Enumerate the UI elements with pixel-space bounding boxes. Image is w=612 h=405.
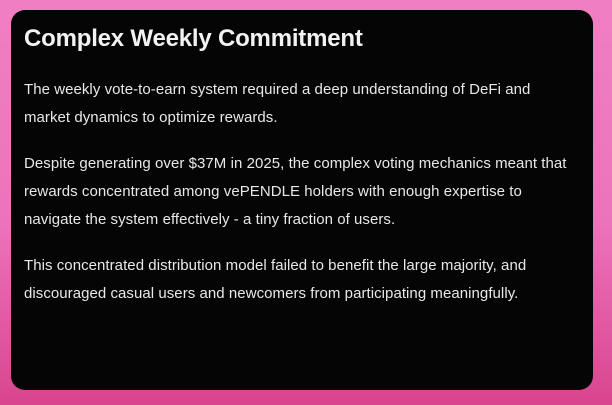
body-copy: The weekly vote-to-earn system required … bbox=[24, 76, 579, 308]
paragraph: The weekly vote-to-earn system required … bbox=[24, 76, 579, 132]
page-title: Complex Weekly Commitment bbox=[24, 24, 579, 54]
content-card: Complex Weekly Commitment The weekly vot… bbox=[11, 10, 593, 390]
paragraph: Despite generating over $37M in 2025, th… bbox=[24, 150, 579, 234]
paragraph: This concentrated distribution model fai… bbox=[24, 252, 579, 308]
